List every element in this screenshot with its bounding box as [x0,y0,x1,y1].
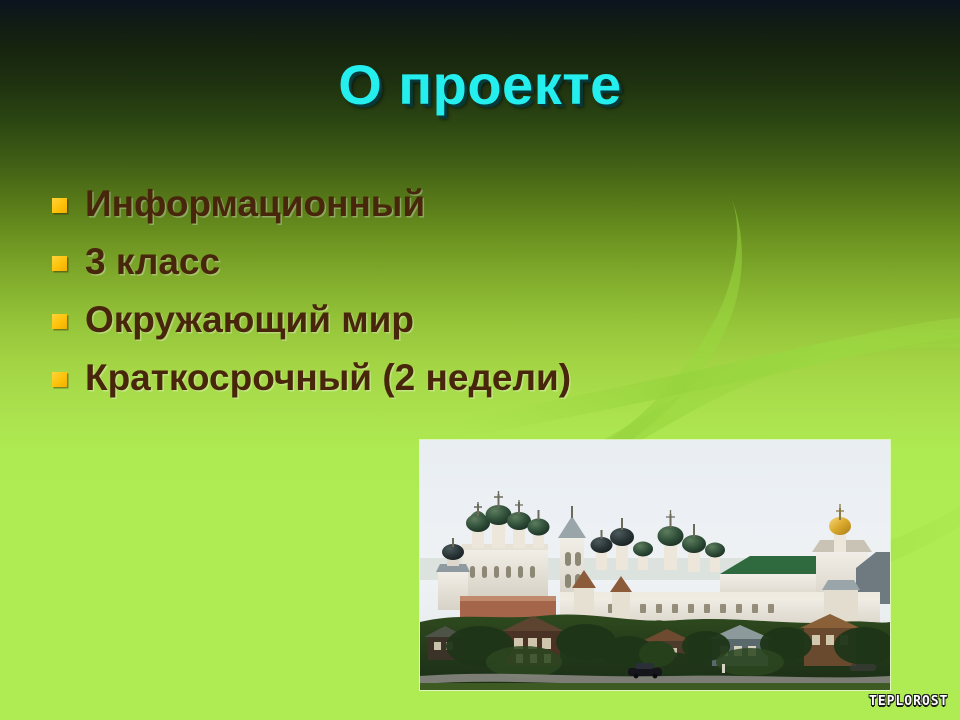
list-item: Информационный [52,174,752,232]
kremlin-photo [420,440,890,690]
list-item-label: 3 класс [85,243,220,280]
kremlin-photo-image [420,440,890,690]
square-bullet-icon [52,256,67,271]
watermark-label: TEPLOROST [869,694,948,709]
list-item-label: Информационный [85,185,425,222]
presentation-slide: О проекте Информационный 3 класс Окружаю… [0,0,960,720]
list-item-label: Краткосрочный (2 недели) [85,359,571,396]
list-item-label: Окружающий мир [85,301,414,338]
square-bullet-icon [52,314,67,329]
list-item: 3 класс [52,232,752,290]
list-item: Окружающий мир [52,290,752,348]
bullet-list: Информационный 3 класс Окружающий мир Кр… [52,174,752,406]
square-bullet-icon [52,198,67,213]
list-item: Краткосрочный (2 недели) [52,348,752,406]
slide-title: О проекте [0,52,960,117]
square-bullet-icon [52,372,67,387]
